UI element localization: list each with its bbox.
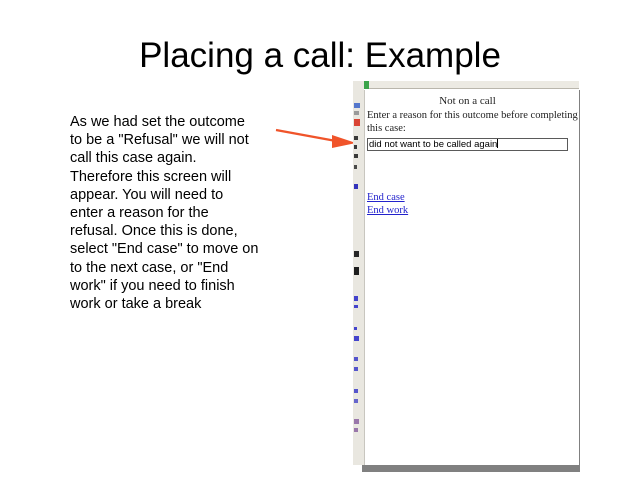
strip-fragment-link-7 [354, 367, 358, 371]
strip-fragment-link-1 [354, 184, 358, 189]
strip-fragment-link-5 [354, 336, 359, 341]
strip-fragment-link-9 [354, 399, 358, 403]
screenshot-clipped-left-strip [353, 81, 364, 465]
end-case-link[interactable]: End case [367, 192, 405, 203]
end-work-link[interactable]: End work [367, 205, 408, 216]
strip-fragment-purple [354, 419, 359, 424]
reason-input[interactable]: did not want to be called again [367, 138, 568, 151]
strip-fragment-dark-1 [354, 136, 358, 140]
strip-fragment-gray [354, 111, 359, 115]
strip-fragment-link-8 [354, 389, 358, 393]
strip-fragment-link-6 [354, 357, 358, 361]
toolbar-status-chip-icon [364, 81, 369, 89]
strip-fragment-dark-6 [354, 267, 359, 275]
form-instruction-text: Enter a reason for this outcome before c… [367, 110, 579, 135]
form-heading: Not on a call [365, 95, 570, 107]
reason-input-value: did not want to be called again [369, 139, 497, 150]
strip-fragment-dark-2 [354, 145, 357, 149]
strip-fragment-link-3 [354, 305, 358, 308]
strip-fragment-link-2 [354, 296, 358, 301]
strip-fragment-red [354, 119, 360, 126]
text-caret [497, 139, 498, 148]
strip-fragment-dark-3 [354, 154, 358, 158]
app-content-pane: Not on a call Enter a reason for this ou… [364, 90, 579, 465]
arrow-annotation-icon [272, 120, 362, 154]
strip-fragment-blue [354, 103, 360, 108]
strip-fragment-dark-4 [354, 165, 357, 169]
strip-fragment-link-4 [354, 327, 357, 330]
embedded-app-screenshot: Not on a call Enter a reason for this ou… [353, 81, 579, 465]
strip-fragment-dark-5 [354, 251, 359, 257]
strip-fragment-purple-2 [354, 428, 358, 432]
app-toolbar [364, 81, 579, 89]
page-title: Placing a call: Example [0, 36, 640, 76]
slide-body-text: As we had set the outcome to be a "Refus… [70, 113, 260, 313]
